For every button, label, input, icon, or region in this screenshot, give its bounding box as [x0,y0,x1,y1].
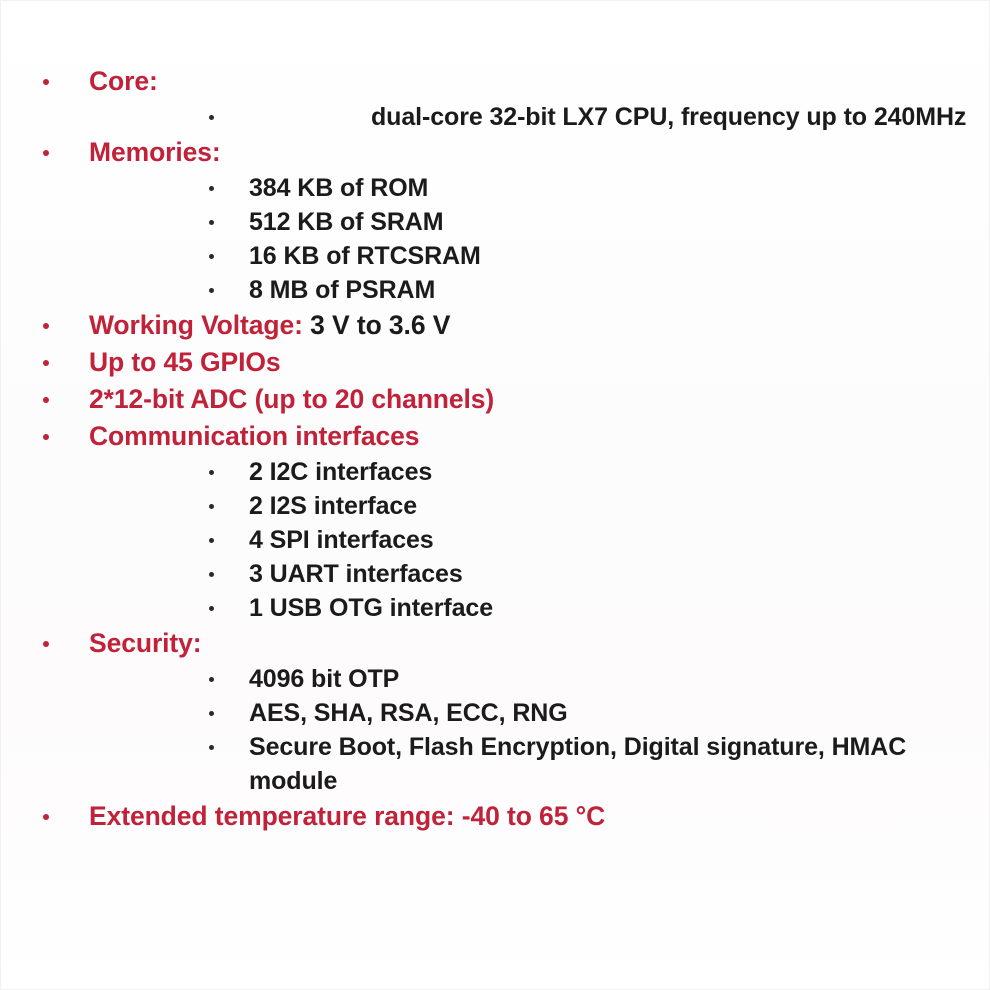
security-secure-boot-text: Secure Boot, Flash Encryption, Digital s… [249,730,989,798]
list-item-i2s: 2 I2S interface [89,489,989,523]
memory-sram-text: 512 KB of SRAM [249,205,989,239]
list-item-core: Core: dual-core 32-bit LX7 CPU, frequenc… [1,63,989,134]
list-item-usb-otg: 1 USB OTG interface [89,591,989,625]
list-item-working-voltage: Working Voltage: 3 V to 3.6 V [1,307,989,344]
list-item-gpios: Up to 45 GPIOs [1,344,989,381]
bullet-icon [209,504,214,509]
bullet-icon [43,323,49,329]
section-heading-security: Security: [89,625,989,662]
bullet-icon [209,288,214,293]
bullet-icon [209,470,214,475]
section-heading-gpios: Up to 45 GPIOs [89,344,989,381]
sublist-core: dual-core 32-bit LX7 CPU, frequency up t… [89,100,989,134]
memory-rtcsram-text: 16 KB of RTCSRAM [249,239,989,273]
list-item-extended-temperature-range: Extended temperature range: -40 to 65 °C [1,798,989,835]
interface-usb-otg-text: 1 USB OTG interface [249,591,989,625]
interface-i2s-text: 2 I2S interface [249,489,989,523]
list-item-uart: 3 UART interfaces [89,557,989,591]
section-heading-communication-interfaces: Communication interfaces [89,418,989,455]
list-item-rom: 384 KB of ROM [89,171,989,205]
core-cpu-text: dual-core 32-bit LX7 CPU, frequency up t… [249,100,989,134]
list-item-communication-interfaces: Communication interfaces 2 I2C interface… [1,418,989,625]
bullet-icon [43,641,49,647]
section-heading-working-voltage: Working Voltage: 3 V to 3.6 V [89,307,989,344]
bullet-icon [43,79,49,85]
list-item-sram: 512 KB of SRAM [89,205,989,239]
section-heading-extended-temperature-range: Extended temperature range: -40 to 65 °C [89,798,989,835]
list-item-memories: Memories: 384 KB of ROM 512 KB of SRAM 1… [1,134,989,307]
bullet-icon [209,606,214,611]
list-item-psram: 8 MB of PSRAM [89,273,989,307]
bullet-icon [43,360,49,366]
list-item-security: Security: 4096 bit OTP AES, SHA, RSA, EC… [1,625,989,798]
bullet-icon [43,397,49,403]
interface-uart-text: 3 UART interfaces [249,557,989,591]
list-item-adc: 2*12-bit ADC (up to 20 channels) [1,381,989,418]
bullet-icon [209,711,214,716]
bullet-icon [43,150,49,156]
bullet-icon [209,538,214,543]
sublist-memories: 384 KB of ROM 512 KB of SRAM 16 KB of RT… [89,171,989,307]
list-item-core-cpu: dual-core 32-bit LX7 CPU, frequency up t… [89,100,989,134]
section-heading-core: Core: [89,63,989,100]
section-heading-memories: Memories: [89,134,989,171]
list-item-crypto-algorithms: AES, SHA, RSA, ECC, RNG [89,696,989,730]
sublist-communication-interfaces: 2 I2C interfaces 2 I2S interface 4 SPI i… [89,455,989,625]
list-item-rtcsram: 16 KB of RTCSRAM [89,239,989,273]
bullet-icon [209,254,214,259]
security-otp-text: 4096 bit OTP [249,662,989,696]
bullet-icon [209,115,214,120]
list-item-spi: 4 SPI interfaces [89,523,989,557]
sublist-security: 4096 bit OTP AES, SHA, RSA, ECC, RNG Sec… [89,662,989,798]
section-heading-adc: 2*12-bit ADC (up to 20 channels) [89,381,989,418]
interface-i2c-text: 2 I2C interfaces [249,455,989,489]
bullet-icon [209,186,214,191]
document-page: Core: dual-core 32-bit LX7 CPU, frequenc… [0,0,990,990]
security-algorithms-text: AES, SHA, RSA, ECC, RNG [249,696,989,730]
memory-rom-text: 384 KB of ROM [249,171,989,205]
bullet-icon [209,572,214,577]
list-item-i2c: 2 I2C interfaces [89,455,989,489]
list-item-otp: 4096 bit OTP [89,662,989,696]
working-voltage-label: Working Voltage: [89,310,303,340]
bullet-icon [209,745,214,750]
memory-psram-text: 8 MB of PSRAM [249,273,989,307]
bullet-icon [43,814,49,820]
working-voltage-value: 3 V to 3.6 V [303,310,450,340]
bullet-icon [209,220,214,225]
bullet-icon [209,677,214,682]
bullet-icon [43,434,49,440]
specification-list: Core: dual-core 32-bit LX7 CPU, frequenc… [1,1,989,835]
interface-spi-text: 4 SPI interfaces [249,523,989,557]
list-item-secure-boot: Secure Boot, Flash Encryption, Digital s… [89,730,989,798]
